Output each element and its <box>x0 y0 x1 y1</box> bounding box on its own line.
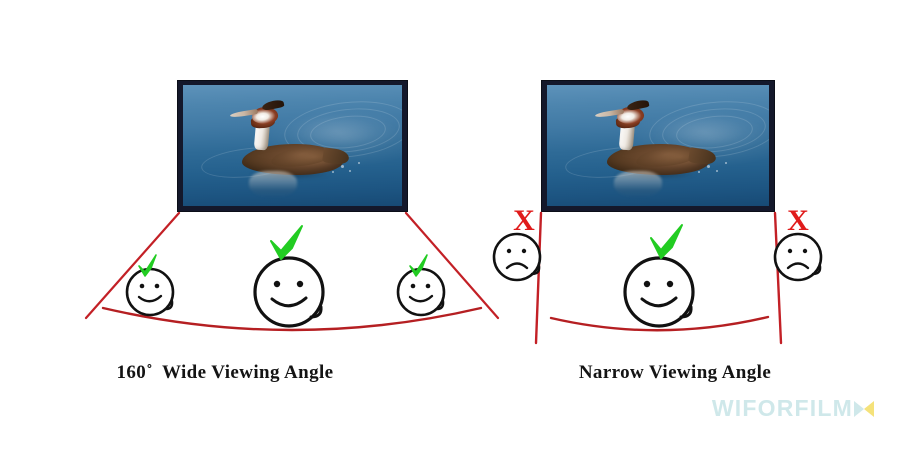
water-foam <box>716 170 718 172</box>
watermark-logo-mark <box>854 399 874 419</box>
water-foam <box>341 165 344 168</box>
tv-right <box>541 80 775 212</box>
water-foam <box>698 171 700 173</box>
diagram-canvas: 160˚Wide Viewing Angle <box>0 0 900 470</box>
tv-screen-right <box>547 85 769 206</box>
water-foam <box>707 165 710 168</box>
caption-wide-text: Wide Viewing Angle <box>162 362 334 383</box>
bird-illustration-left <box>183 85 402 206</box>
caption-wide: 160˚Wide Viewing Angle <box>0 362 450 384</box>
panel-wide-viewing-angle: 160˚Wide Viewing Angle <box>0 0 450 470</box>
watermark-text: WIFORFILM <box>712 395 853 422</box>
caption-narrow-text: Narrow Viewing Angle <box>579 362 771 383</box>
degree-symbol: ˚ <box>146 362 153 383</box>
tv-left <box>177 80 408 212</box>
caption-narrow: Narrow Viewing Angle <box>450 362 900 384</box>
bird-reflection <box>249 171 297 198</box>
watermark-wiforfilm: WIFORFILM <box>712 395 874 422</box>
tv-screen-left <box>183 85 402 206</box>
bird-reflection <box>614 171 663 198</box>
water-foam <box>332 171 334 173</box>
caption-wide-number: 160 <box>117 362 147 383</box>
bird-illustration-right <box>547 85 769 206</box>
